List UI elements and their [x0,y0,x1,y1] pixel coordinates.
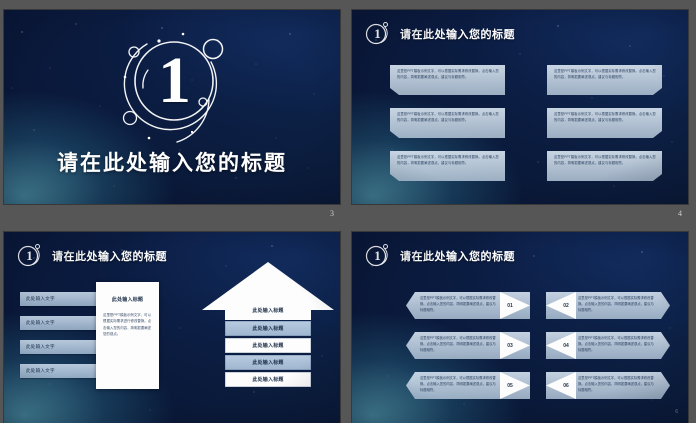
arrow-segment[interactable]: 此处输入标题 [225,372,311,387]
note-text: 这里是PPT模板示例文字，可以根据实际需求修改替换。点击输入您的内容，简明扼要阐… [554,69,656,81]
slide-2-six-notes[interactable]: 1 请在此处输入您的标题 这里是PPT模板示例文字，可以根据实际需求修改替换。点… [352,10,688,204]
arrow-head-label[interactable]: 此处输入标题 [225,302,311,318]
slide-title[interactable]: 请在此处输入您的标题 [52,248,167,264]
page-number-slide-1: 3 [330,209,334,218]
chevron-text: 这里是PPT模板示例文字，可以根据实际需求修改替换。点击输入您的内容，简明扼要阐… [420,296,498,313]
note-box[interactable]: 这里是PPT模板示例文字，可以根据实际需求修改替换。点击输入您的内容，简明扼要阐… [390,65,505,95]
chevron-text: 这里是PPT模板示例文字，可以根据实际需求修改替换。点击输入您的内容，简明扼要阐… [420,376,498,393]
chevron-text: 这里是PPT模板示例文字，可以根据实际需求修改替换。点击输入您的内容，简明扼要阐… [578,336,656,353]
badge-number: 1 [364,20,391,47]
arrow-segment[interactable]: 此处输入标题 [225,355,311,370]
cover-orbit-graphic: 1 [99,22,249,152]
slide-header: 1 请在此处输入您的标题 [364,242,515,269]
slide-1-cover[interactable]: 1 请在此处输入您的标题 [4,10,340,204]
row-gap [530,292,546,319]
badge-number: 1 [16,242,43,269]
note-text: 这里是PPT模板示例文字，可以根据实际需求修改替换。点击输入您的内容，简明扼要阐… [397,155,499,167]
arrow-segment[interactable]: 此处输入标题 [225,321,311,336]
slide-header: 1 请在此处输入您的标题 [16,242,167,269]
header-badge: 1 [364,20,391,47]
chevron-text: 这里是PPT模板示例文字，可以根据实际需求修改替换。点击输入您的内容，简明扼要阐… [578,296,656,313]
up-arrow-diagram: 此处输入标题 此处输入标题 此处输入标题 此处输入标题 此处输入标题 [202,262,334,390]
card-heading: 此处输入标题 [103,296,152,303]
bar-item[interactable]: 此处输入文字 [20,364,100,378]
note-text: 这里是PPT模板示例文字，可以根据实际需求修改替换。点击输入您的内容，简明扼要阐… [397,112,499,124]
note-box[interactable]: 这里是PPT模板示例文字，可以根据实际需求修改替换。点击输入您的内容，简明扼要阐… [547,65,662,95]
chevron-item[interactable]: 这里是PPT模板示例文字，可以根据实际需求修改替换。点击输入您的内容，简明扼要阐… [546,372,670,399]
row-gap [530,332,546,359]
badge-number: 1 [364,242,391,269]
bar-list: 此处输入文字 此处输入文字 此处输入文字 此处输入文字 [20,292,100,388]
bar-item[interactable]: 此处输入文字 [20,292,100,306]
card-body: 这里是PPT模板示例文字，可以根据实际需求进行修改替换。点击输入您的内容，简明扼… [103,312,152,338]
chevron-item[interactable]: 这里是PPT模板示例文字，可以根据实际需求修改替换。点击输入您的内容，简明扼要阐… [546,292,670,319]
chevron-text: 这里是PPT模板示例文字，可以根据实际需求修改替换。点击输入您的内容，简明扼要阐… [578,376,656,393]
note-box[interactable]: 这里是PPT模板示例文字，可以根据实际需求修改替换。点击输入您的内容，简明扼要阐… [547,108,662,138]
slide-title[interactable]: 请在此处输入您的标题 [400,248,515,264]
thumbnail-sheet: 1 请在此处输入您的标题 3 [0,0,696,423]
note-box[interactable]: 这里是PPT模板示例文字，可以根据实际需求修改替换。点击输入您的内容，简明扼要阐… [390,108,505,138]
chevron-item[interactable]: 这里是PPT模板示例文字，可以根据实际需求修改替换。点击输入您的内容，简明扼要阐… [546,332,670,359]
cover-title[interactable]: 请在此处输入您的标题 [4,147,340,177]
bar-item[interactable]: 此处输入文字 [20,316,100,330]
cover-number: 1 [99,22,249,140]
chevron-item[interactable]: 这里是PPT模板示例文字，可以根据实际需求修改替换。点击输入您的内容，简明扼要阐… [406,372,530,399]
page-number-slide-2: 4 [678,209,682,218]
chevron-row: 这里是PPT模板示例文字，可以根据实际需求修改替换。点击输入您的内容，简明扼要阐… [406,332,670,359]
chevron-text: 这里是PPT模板示例文字，可以根据实际需求修改替换。点击输入您的内容，简明扼要阐… [420,336,498,353]
row-gap [530,372,546,399]
chevron-item[interactable]: 这里是PPT模板示例文字，可以根据实际需求修改替换。点击输入您的内容，简明扼要阐… [406,332,530,359]
slide-4-chevron-list[interactable]: 1 请在此处输入您的标题 这里是PPT模板示例文字，可以根据实际需求修改替换。点… [352,232,688,423]
header-badge: 1 [364,242,391,269]
note-box[interactable]: 这里是PPT模板示例文字，可以根据实际需求修改替换。点击输入您的内容，简明扼要阐… [547,151,662,181]
arrow-segment[interactable]: 此处输入标题 [225,338,311,353]
slide-title[interactable]: 请在此处输入您的标题 [400,26,515,42]
detail-card[interactable]: 此处输入标题 这里是PPT模板示例文字，可以根据实际需求进行修改替换。点击输入您… [96,282,159,389]
note-box[interactable]: 这里是PPT模板示例文字，可以根据实际需求修改替换。点击输入您的内容，简明扼要阐… [390,151,505,181]
note-text: 这里是PPT模板示例文字，可以根据实际需求修改替换。点击输入您的内容，简明扼要阐… [554,155,656,167]
slide-page-number: 6 [675,409,678,415]
note-text: 这里是PPT模板示例文字，可以根据实际需求修改替换。点击输入您的内容，简明扼要阐… [397,69,499,81]
note-text: 这里是PPT模板示例文字，可以根据实际需求修改替换。点击输入您的内容，简明扼要阐… [554,112,656,124]
chevron-grid: 这里是PPT模板示例文字，可以根据实际需求修改替换。点击输入您的内容，简明扼要阐… [406,292,670,412]
slide-header: 1 请在此处输入您的标题 [364,20,515,47]
slide-3-arrow-diagram[interactable]: 1 请在此处输入您的标题 此处输入文字 此处输入文字 此处输入文字 此处输入文字… [4,232,340,423]
header-badge: 1 [16,242,43,269]
chevron-item[interactable]: 这里是PPT模板示例文字，可以根据实际需求修改替换。点击输入您的内容，简明扼要阐… [406,292,530,319]
bar-item[interactable]: 此处输入文字 [20,340,100,354]
chevron-row: 这里是PPT模板示例文字，可以根据实际需求修改替换。点击输入您的内容，简明扼要阐… [406,292,670,319]
note-box-grid: 这里是PPT模板示例文字，可以根据实际需求修改替换。点击输入您的内容，简明扼要阐… [390,65,662,181]
chevron-row: 这里是PPT模板示例文字，可以根据实际需求修改替换。点击输入您的内容，简明扼要阐… [406,372,670,399]
